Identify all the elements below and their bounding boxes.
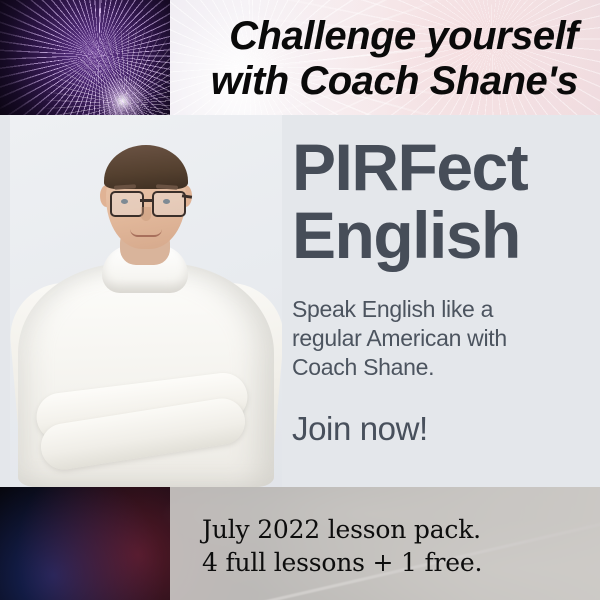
coach-portrait [10,115,282,487]
join-now-cta[interactable]: Join now! [292,410,588,448]
portrait-glasses-left-lens [110,191,144,217]
portrait-glasses-right-lens [152,191,186,217]
footer: July 2022 lesson pack. 4 full lessons + … [0,487,600,600]
product-subtitle-line2: regular American with [292,325,507,351]
portrait-nose [141,207,151,221]
product-subtitle: Speak English like a regular American wi… [292,295,588,382]
portrait-glasses-bridge [140,199,152,202]
product-title-line1: PIRFect [292,133,588,201]
banner: Challenge yourself with Coach Shane's [0,0,600,115]
footer-offer-line1: July 2022 lesson pack. [202,513,482,546]
footer-offer-line2: 4 full lessons + 1 free. [202,546,482,579]
product-subtitle-line1: Speak English like a [292,296,493,322]
main-content: PIRFect English Speak English like a reg… [0,115,600,487]
footer-offer-text: July 2022 lesson pack. 4 full lessons + … [202,513,482,579]
portrait-mouth [130,229,162,237]
product-title: PIRFect English [292,133,588,269]
promo-poster: Challenge yourself with Coach Shane's [0,0,600,600]
banner-headline-line2: with Coach Shane's [0,59,578,104]
product-subtitle-line3: Coach Shane. [292,354,434,380]
product-title-line2: English [292,201,588,269]
banner-headline-line1: Challenge yourself [0,14,578,59]
copy-block: PIRFect English Speak English like a reg… [292,115,588,448]
banner-headline: Challenge yourself with Coach Shane's [0,14,578,104]
